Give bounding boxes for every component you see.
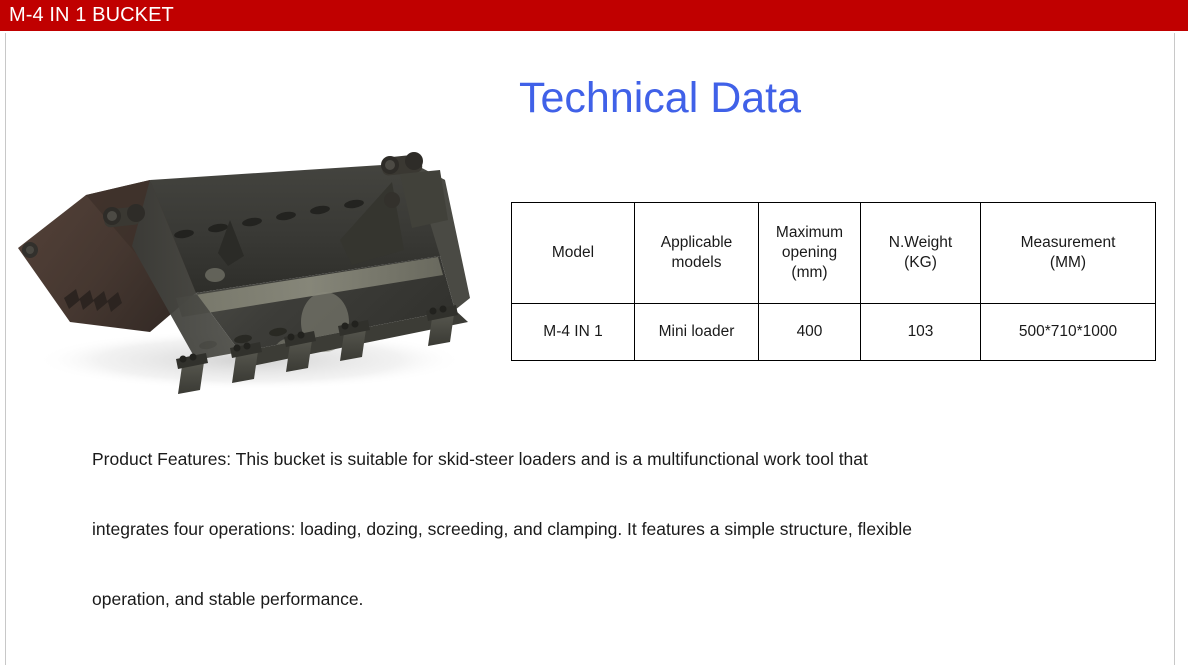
table-header-n-weight: N.Weight (KG): [861, 203, 981, 304]
cell-measurement: 500*710*1000: [981, 304, 1156, 361]
header-line: Maximum: [763, 223, 856, 243]
slide-page: M-4 IN 1 BUCKET Technical Data: [0, 0, 1188, 665]
image-jaw-pivot-pin-inner: [26, 246, 34, 254]
header-line: (MM): [985, 253, 1151, 273]
table-header-maximum-opening: Maximum opening (mm): [759, 203, 861, 304]
technical-data-table: Model Applicable models Maximum opening …: [511, 202, 1156, 361]
table-header-row: Model Applicable models Maximum opening …: [512, 203, 1156, 304]
header-line: N.Weight: [865, 233, 976, 253]
cell-applicable-models: Mini loader: [635, 304, 759, 361]
header-line: Measurement: [985, 233, 1151, 253]
right-border-rule: [1174, 33, 1175, 665]
header-line: (KG): [865, 253, 976, 273]
header-line: models: [639, 253, 754, 273]
header-line: Model: [516, 243, 630, 263]
header-line: (mm): [763, 263, 856, 283]
page-header-bar: M-4 IN 1 BUCKET: [0, 0, 1188, 31]
cell-model: M-4 IN 1: [512, 304, 635, 361]
cell-maximum-opening: 400: [759, 304, 861, 361]
table-header-applicable-models: Applicable models: [635, 203, 759, 304]
product-features-paragraph: Product Features: This bucket is suitabl…: [92, 424, 1092, 634]
table-header-model: Model: [512, 203, 635, 304]
table-header-measurement: Measurement (MM): [981, 203, 1156, 304]
page-title: M-4 IN 1 BUCKET: [9, 3, 174, 28]
table-row: M-4 IN 1 Mini loader 400 103 500*710*100…: [512, 304, 1156, 361]
header-line: opening: [763, 243, 856, 263]
cell-n-weight: 103: [861, 304, 981, 361]
product-image-bucket: [0, 60, 500, 400]
features-line-2: integrates four operations: loading, doz…: [92, 494, 1092, 564]
header-line: Applicable: [639, 233, 754, 253]
technical-data-heading: Technical Data: [519, 72, 801, 124]
features-line-1: Product Features: This bucket is suitabl…: [92, 424, 1092, 494]
features-line-3: operation, and stable performance.: [92, 564, 1092, 634]
